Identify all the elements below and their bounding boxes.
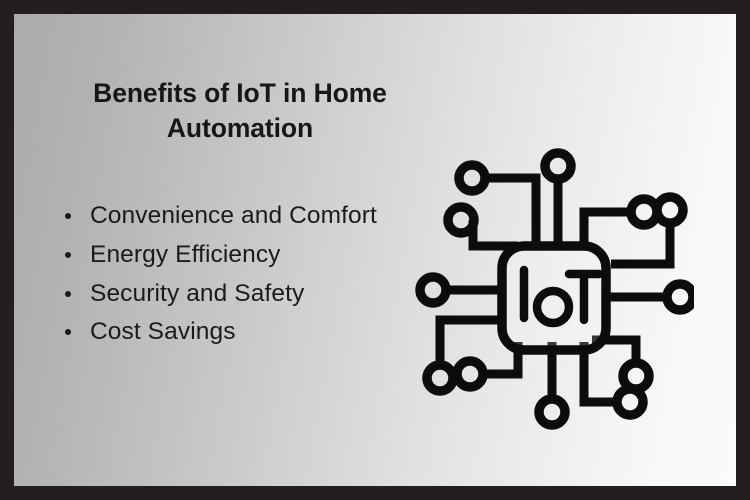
slide-canvas: Benefits of IoT in Home Automation Conve…: [14, 14, 736, 486]
slide-frame: Benefits of IoT in Home Automation Conve…: [0, 0, 750, 500]
chip-body: [502, 246, 606, 350]
list-item: Convenience and Comfort: [48, 199, 408, 234]
benefits-list: Convenience and Comfort Energy Efficienc…: [48, 199, 408, 354]
page-title: Benefits of IoT in Home Automation: [50, 76, 430, 146]
circuit-node: [539, 399, 565, 425]
circuit-node: [667, 284, 693, 310]
circuit-node: [420, 277, 446, 303]
list-item: Cost Savings: [48, 315, 408, 350]
circuit-node: [617, 389, 643, 415]
circuit-node: [448, 207, 474, 233]
circuit-node: [657, 197, 683, 223]
circuit-node: [457, 361, 483, 387]
list-item: Security and Safety: [48, 277, 408, 312]
circuit-node: [545, 153, 571, 179]
iot-chip-icon: [406, 142, 694, 430]
circuit-node: [427, 365, 453, 391]
list-item: Energy Efficiency: [48, 238, 408, 273]
circuit-node: [459, 165, 485, 191]
